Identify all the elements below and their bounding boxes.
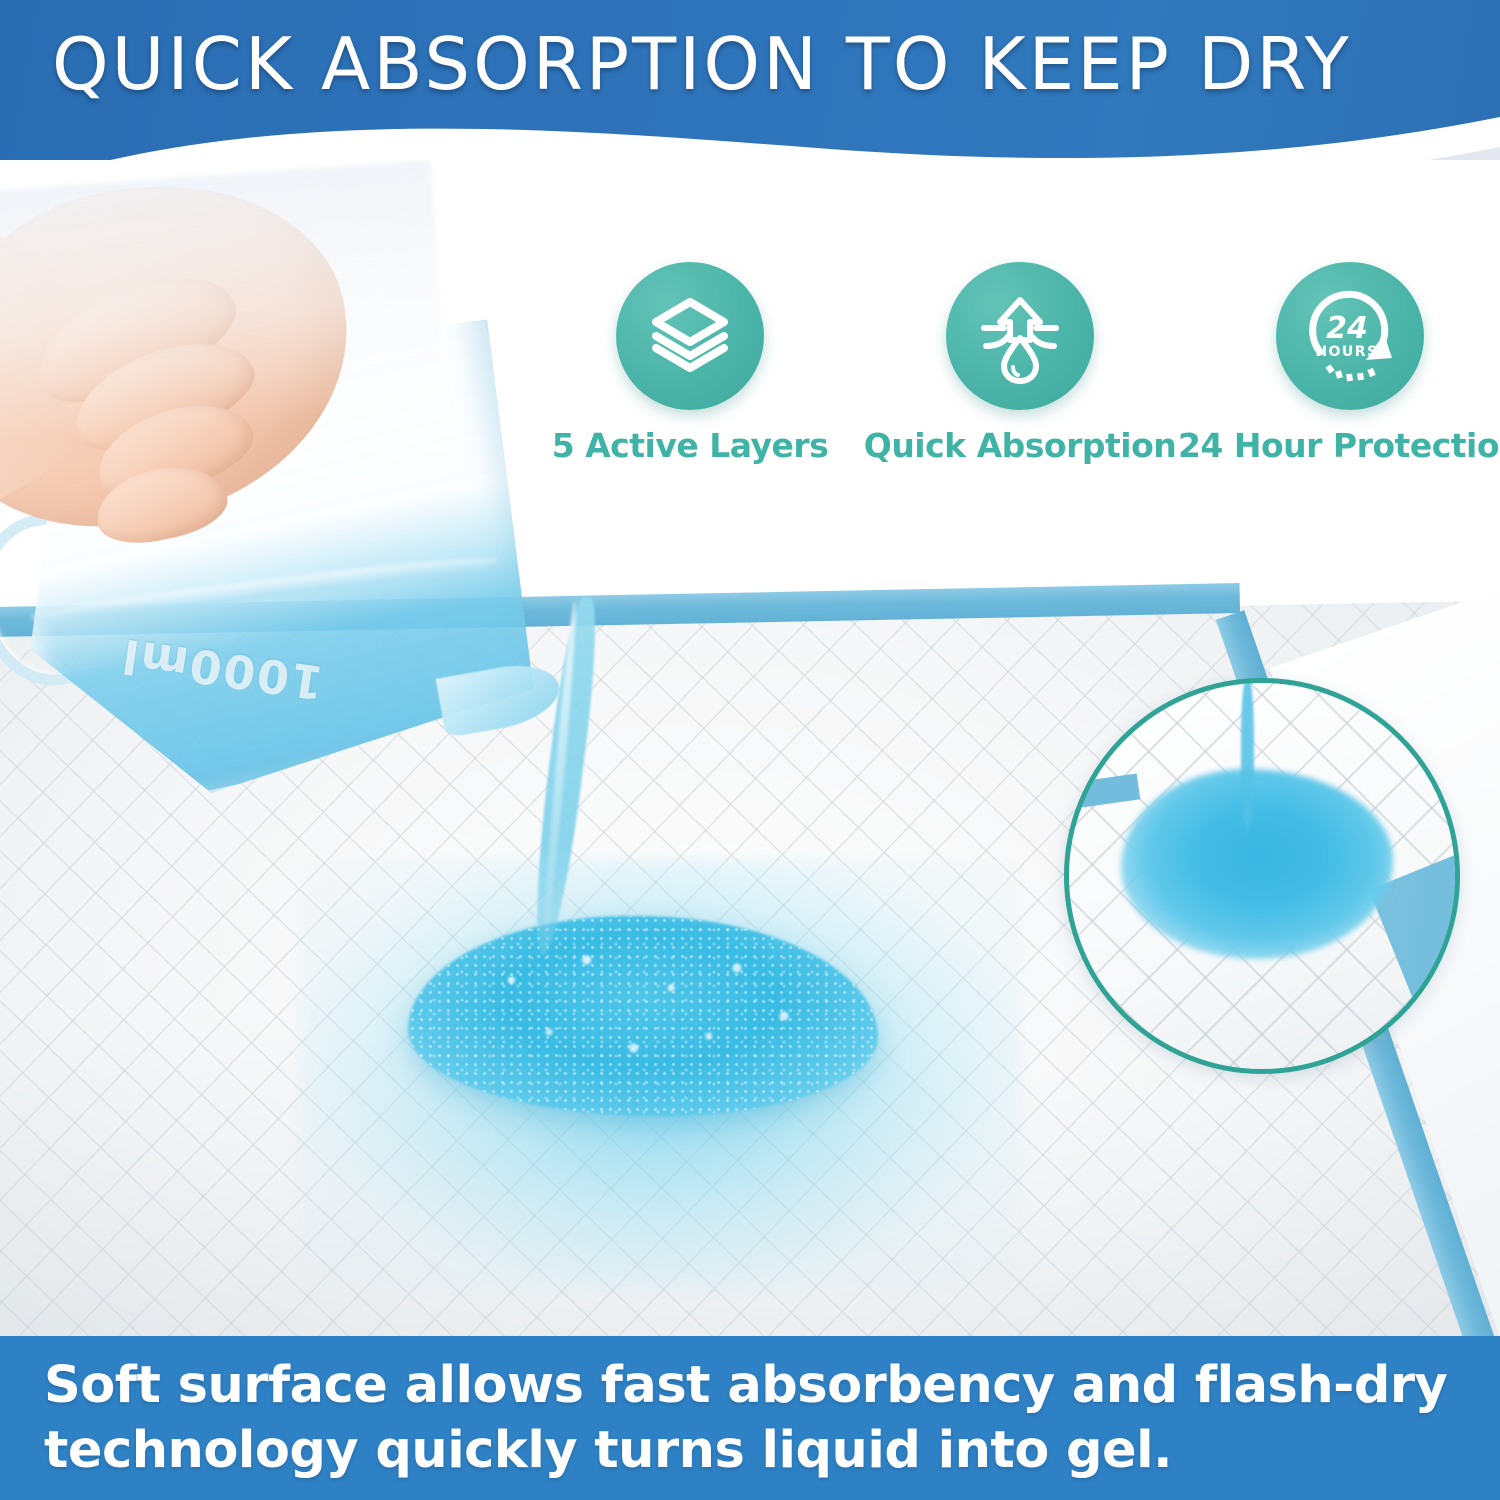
feature-item-absorption[interactable]: Quick Absorption: [870, 262, 1170, 465]
feature-label-protection: 24 Hour Protection: [1178, 426, 1500, 465]
feature-label-layers: 5 Active Layers: [552, 426, 829, 465]
inset-water-stream: [1241, 679, 1254, 829]
product-marketing-image: QUICK ABSORPTION TO KEEP DRY 1000ml: [0, 0, 1500, 1500]
absorption-icon-badge: [946, 262, 1094, 410]
feature-item-layers[interactable]: 5 Active Layers: [540, 262, 840, 465]
protection-icon-badge: 24 HOURS: [1276, 262, 1424, 410]
layers-icon-badge: [616, 262, 764, 410]
layers-icon: [642, 288, 738, 384]
inset-absorbed-stain: [1121, 769, 1393, 959]
badge-hours-text: HOURS: [1315, 344, 1378, 360]
footer-text-line-1: Soft surface allows fast absorbency and …: [44, 1353, 1500, 1418]
magnified-detail-inset: [1064, 678, 1460, 1074]
footer-text-line-2: technology quickly turns liquid into gel…: [44, 1418, 1500, 1483]
absorption-arrow-droplet-icon: [972, 288, 1068, 384]
page-title: QUICK ABSORPTION TO KEEP DRY: [52, 22, 1352, 106]
footer-banner: Soft surface allows fast absorbency and …: [0, 1336, 1500, 1500]
hand-fade-overlay: [0, 160, 448, 446]
24-hours-clock-arrow-icon: 24 HOURS: [1300, 286, 1400, 386]
feature-highlights-row: 5 Active Layers: [540, 262, 1500, 465]
feature-item-protection[interactable]: 24 HOURS 24 Hour Protection: [1200, 262, 1500, 465]
feature-label-absorption: Quick Absorption: [864, 426, 1176, 465]
badge-24-text: 24: [1326, 311, 1368, 346]
